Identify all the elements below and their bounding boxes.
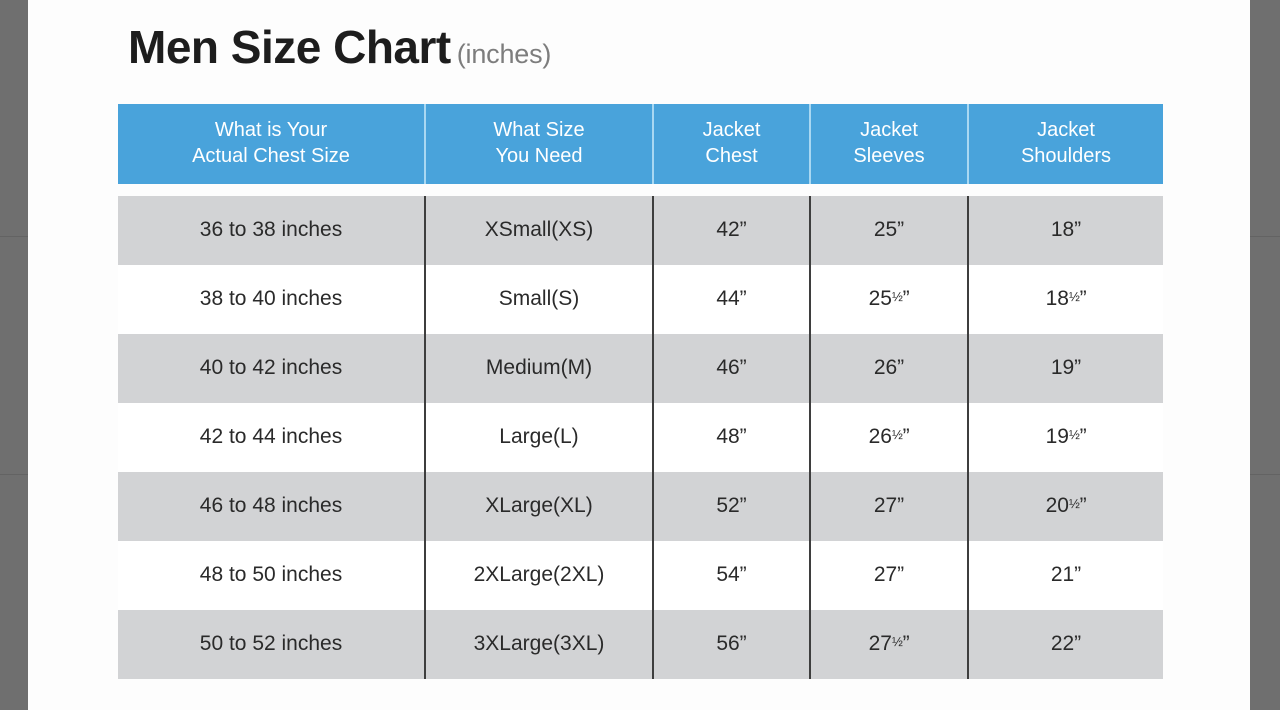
column-header-line1: What is Your	[215, 119, 327, 141]
cell-size-name: 3XLarge(3XL)	[425, 610, 653, 679]
cell-jacket-chest: 54”	[653, 541, 810, 610]
cell-chest-range: 46 to 48 inches	[118, 472, 425, 541]
cell-jacket-shoulders: 20½”	[968, 472, 1163, 541]
cell-jacket-shoulders: 18½”	[968, 265, 1163, 334]
table-row: 38 to 40 inches Small(S) 44” 25½” 18½”	[118, 265, 1163, 334]
table-header-row: What is Your Actual Chest Size What Size…	[118, 104, 1163, 184]
cell-jacket-shoulders: 21”	[968, 541, 1163, 610]
cell-jacket-chest: 52”	[653, 472, 810, 541]
column-header-line2: Sleeves	[815, 143, 963, 169]
table-header: What is Your Actual Chest Size What Size…	[118, 104, 1163, 184]
cell-jacket-shoulders: 22”	[968, 610, 1163, 679]
cell-chest-range: 50 to 52 inches	[118, 610, 425, 679]
page-title: Men Size Chart(inches)	[128, 20, 551, 74]
column-header-line2: You Need	[430, 143, 648, 169]
cell-size-name: 2XLarge(2XL)	[425, 541, 653, 610]
cell-jacket-shoulders: 18”	[968, 196, 1163, 265]
band-seam	[0, 474, 28, 475]
size-chart-table: What is Your Actual Chest Size What Size…	[118, 104, 1163, 679]
cell-chest-range: 36 to 38 inches	[118, 196, 425, 265]
cell-size-name: XSmall(XS)	[425, 196, 653, 265]
cell-jacket-sleeves: 27½”	[810, 610, 968, 679]
content-sheet: Men Size Chart(inches) What is Your Actu…	[28, 0, 1250, 710]
table-body: 36 to 38 inches XSmall(XS) 42” 25” 18” 3…	[118, 184, 1163, 679]
page-title-main: Men Size Chart	[128, 21, 451, 73]
column-header-line2: Shoulders	[973, 143, 1159, 169]
cell-jacket-sleeves: 26½”	[810, 403, 968, 472]
cell-jacket-sleeves: 25”	[810, 196, 968, 265]
column-header-actual-chest-size: What is Your Actual Chest Size	[118, 104, 425, 184]
cell-jacket-shoulders: 19½”	[968, 403, 1163, 472]
cell-jacket-chest: 56”	[653, 610, 810, 679]
column-header-line1: Jacket	[860, 119, 918, 141]
table-row: 48 to 50 inches 2XLarge(2XL) 54” 27” 21”	[118, 541, 1163, 610]
cell-jacket-sleeves: 27”	[810, 472, 968, 541]
column-header-line2: Chest	[658, 143, 805, 169]
cell-chest-range: 42 to 44 inches	[118, 403, 425, 472]
table-row: 40 to 42 inches Medium(M) 46” 26” 19”	[118, 334, 1163, 403]
column-header-line1: What Size	[493, 119, 584, 141]
cell-chest-range: 48 to 50 inches	[118, 541, 425, 610]
cell-chest-range: 40 to 42 inches	[118, 334, 425, 403]
band-seam	[0, 236, 28, 237]
band-seam	[1250, 236, 1280, 237]
table-row: 50 to 52 inches 3XLarge(3XL) 56” 27½” 22…	[118, 610, 1163, 679]
cell-jacket-chest: 42”	[653, 196, 810, 265]
table-row: 42 to 44 inches Large(L) 48” 26½” 19½”	[118, 403, 1163, 472]
cell-jacket-chest: 44”	[653, 265, 810, 334]
cell-jacket-shoulders: 19”	[968, 334, 1163, 403]
cell-size-name: XLarge(XL)	[425, 472, 653, 541]
cell-size-name: Large(L)	[425, 403, 653, 472]
column-header-line1: Jacket	[703, 119, 761, 141]
letterbox-band-left	[0, 0, 28, 710]
cell-jacket-chest: 46”	[653, 334, 810, 403]
table-row: 36 to 38 inches XSmall(XS) 42” 25” 18”	[118, 196, 1163, 265]
column-header-line2: Actual Chest Size	[122, 143, 420, 169]
column-header-jacket-chest: Jacket Chest	[653, 104, 810, 184]
cell-size-name: Small(S)	[425, 265, 653, 334]
table-row: 46 to 48 inches XLarge(XL) 52” 27” 20½”	[118, 472, 1163, 541]
letterbox-band-right	[1250, 0, 1280, 710]
cell-chest-range: 38 to 40 inches	[118, 265, 425, 334]
cell-jacket-sleeves: 26”	[810, 334, 968, 403]
band-seam	[1250, 474, 1280, 475]
cell-jacket-sleeves: 27”	[810, 541, 968, 610]
table-header-gap-cell	[118, 184, 1163, 196]
page-title-unit: (inches)	[457, 39, 551, 69]
cell-jacket-chest: 48”	[653, 403, 810, 472]
column-header-size-you-need: What Size You Need	[425, 104, 653, 184]
screenshot-stage: Men Size Chart(inches) What is Your Actu…	[0, 0, 1280, 710]
column-header-jacket-sleeves: Jacket Sleeves	[810, 104, 968, 184]
column-header-line1: Jacket	[1037, 119, 1095, 141]
column-header-jacket-shoulders: Jacket Shoulders	[968, 104, 1163, 184]
cell-size-name: Medium(M)	[425, 334, 653, 403]
table-header-gap	[118, 184, 1163, 196]
cell-jacket-sleeves: 25½”	[810, 265, 968, 334]
